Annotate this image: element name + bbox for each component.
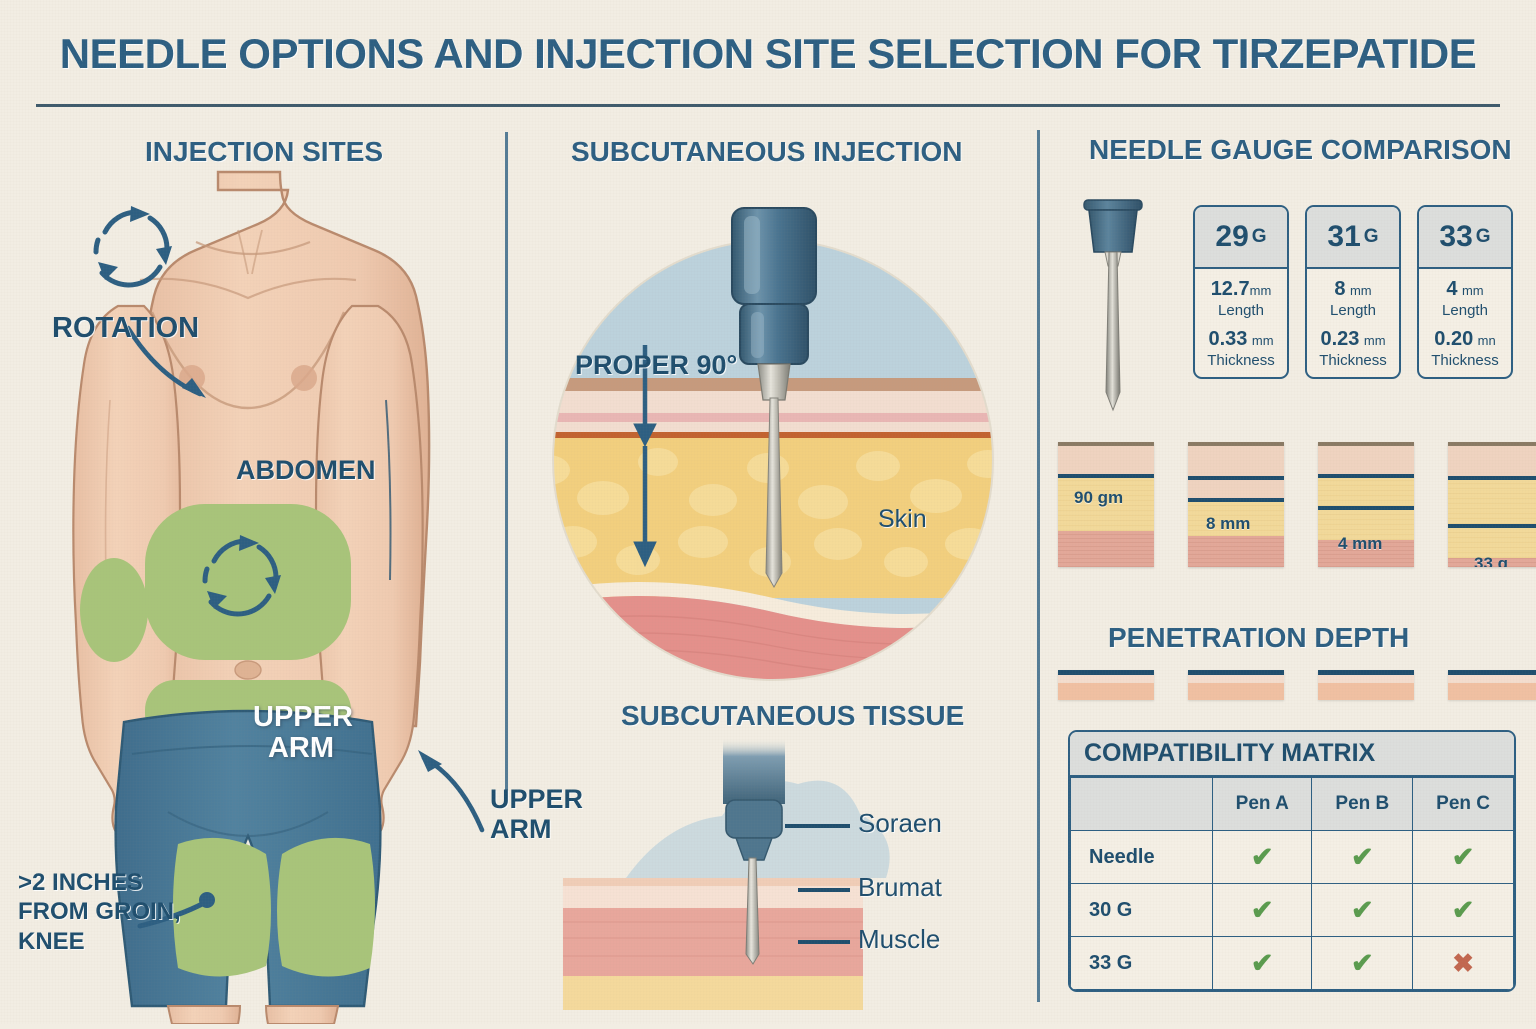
matrix-cell-2-2: ✖ xyxy=(1413,937,1514,990)
label-proper-90: PROPER 90° xyxy=(575,350,737,381)
gauge-card-0-thickness: 0.33 xyxy=(1208,328,1247,350)
matrix-cell-1-1: ✔ xyxy=(1312,884,1413,937)
check-icon: ✔ xyxy=(1251,842,1274,872)
matrix-cell-2-0: ✔ xyxy=(1213,937,1312,990)
gauge-card-0-thickness-unit: mm xyxy=(1252,333,1274,348)
matrix-cell-1-0: ✔ xyxy=(1213,884,1312,937)
gauge-card-0-unit: G xyxy=(1252,226,1267,248)
matrix-cell-0-1: ✔ xyxy=(1312,831,1413,884)
gauge-card-1-thickness-unit: mm xyxy=(1364,333,1386,348)
gauge-card-2-unit: G xyxy=(1476,226,1491,248)
gauge-card-0-body: 12.7mm Length 0.33 mm Thickness xyxy=(1195,269,1287,377)
gauge-card-2-body: 4 mm Length 0.20 mn Thickness xyxy=(1419,269,1511,377)
tissue-label-0: Soraen xyxy=(858,808,942,839)
check-icon: ✔ xyxy=(1251,948,1274,978)
label-skin: Skin xyxy=(878,505,927,534)
page-title: NEEDLE OPTIONS AND INJECTION SITE SELECT… xyxy=(0,30,1536,78)
groin-note-line2: FROM GROIN, xyxy=(18,897,181,926)
gauge-card-0[interactable]: 29 G 12.7mm Length 0.33 mm Thickness xyxy=(1193,205,1289,379)
tissue-label-1: Brumat xyxy=(858,872,942,903)
gauge-card-1[interactable]: 31 G 8 mm Length 0.23 mm Thickness xyxy=(1305,205,1401,379)
matrix-col-3: Pen C xyxy=(1413,778,1514,831)
gauge-card-2-value: 33 xyxy=(1439,220,1472,254)
navel xyxy=(235,661,261,679)
gauge-card-1-thickness: 0.23 xyxy=(1320,328,1359,350)
matrix-row-0-label: Needle xyxy=(1071,831,1213,884)
depth-box-3-label: 33 g xyxy=(1474,554,1508,567)
depth-box-2-label: 4 mm xyxy=(1338,534,1382,554)
subcutaneous-injection-diagram: PROPER 90° Skin xyxy=(508,130,1038,700)
needle-gauge-panel: 29 G 12.7mm Length 0.33 mm Thickness 31 … xyxy=(1040,130,1536,1024)
matrix-col-2: Pen B xyxy=(1312,778,1413,831)
reference-needle-icon xyxy=(1064,190,1160,420)
check-icon: ✔ xyxy=(1351,842,1374,872)
body-diagram: ROTATION ABDOMEN UPPER ARM UPPER ARM >2 … xyxy=(0,130,505,1024)
label-upper-arm-center-line2: ARM xyxy=(253,733,349,764)
page-title-text: NEEDLE OPTIONS AND INJECTION SITE SELECT… xyxy=(0,30,1536,78)
penetration-strip-2 xyxy=(1318,670,1414,700)
gauge-card-1-unit: G xyxy=(1364,226,1379,248)
gauge-card-2-length: 4 xyxy=(1446,278,1457,300)
gauge-card-1-length: 8 xyxy=(1334,278,1345,300)
compatibility-matrix: COMPATIBILITY MATRIX Pen A Pen B Pen C N… xyxy=(1068,730,1516,992)
site-upper-arm-left xyxy=(80,558,148,662)
gauge-card-2[interactable]: 33 G 4 mm Length 0.20 mn Thickness xyxy=(1417,205,1513,379)
site-abdomen-upper xyxy=(145,504,351,660)
gauge-card-1-body: 8 mm Length 0.23 mm Thickness xyxy=(1307,269,1399,377)
gauge-card-0-header: 29 G xyxy=(1195,207,1287,269)
matrix-cell-0-0: ✔ xyxy=(1213,831,1312,884)
label-groin-knee-note: >2 INCHES FROM GROIN, KNEE xyxy=(18,868,181,956)
depth-box-0: 90 gm xyxy=(1058,442,1154,567)
matrix-title: COMPATIBILITY MATRIX xyxy=(1070,732,1514,777)
depth-box-0-label: 90 gm xyxy=(1074,488,1123,508)
matrix-cell-0-2: ✔ xyxy=(1413,831,1514,884)
table-row: Needle ✔ ✔ ✔ xyxy=(1071,831,1514,884)
matrix-table: Pen A Pen B Pen C Needle ✔ ✔ ✔ 30 G ✔ ✔ … xyxy=(1070,777,1514,990)
gauge-card-0-thickness-caption: Thickness xyxy=(1199,352,1283,369)
check-icon: ✔ xyxy=(1452,895,1475,925)
matrix-col-0 xyxy=(1071,778,1213,831)
site-thigh-left xyxy=(173,838,271,977)
check-icon: ✔ xyxy=(1351,948,1374,978)
gauge-card-1-thickness-caption: Thickness xyxy=(1311,352,1395,369)
groin-note-line3: KNEE xyxy=(18,927,181,956)
gauge-card-0-length-caption: Length xyxy=(1199,302,1283,319)
matrix-cell-2-1: ✔ xyxy=(1312,937,1413,990)
table-row: 33 G ✔ ✔ ✖ xyxy=(1071,937,1514,990)
check-icon: ✔ xyxy=(1351,895,1374,925)
gauge-card-1-header: 31 G xyxy=(1307,207,1399,269)
depth-box-1: 8 mm xyxy=(1188,442,1284,567)
gauge-card-0-length-unit: mm xyxy=(1250,283,1272,298)
heading-penetration-depth: PENETRATION DEPTH xyxy=(1108,622,1409,654)
cross-icon: ✖ xyxy=(1452,948,1474,978)
matrix-col-1: Pen A xyxy=(1213,778,1312,831)
tissue-svg xyxy=(508,700,1038,1024)
groin-note-line1: >2 INCHES xyxy=(18,868,181,897)
penetration-strip-0 xyxy=(1058,670,1154,700)
check-icon: ✔ xyxy=(1251,895,1274,925)
gauge-card-1-length-unit: mm xyxy=(1350,283,1372,298)
title-divider xyxy=(36,104,1500,107)
gauge-card-0-length: 12.7 xyxy=(1211,278,1250,300)
depth-box-2: 4 mm xyxy=(1318,442,1414,567)
injection-circle-svg xyxy=(508,130,1038,700)
gauge-card-2-thickness-caption: Thickness xyxy=(1423,352,1507,369)
gauge-card-2-thickness: 0.20 xyxy=(1434,328,1473,350)
tissue-label-2: Muscle xyxy=(858,924,940,955)
penetration-strip-1 xyxy=(1188,670,1284,700)
matrix-row-1-label: 30 G xyxy=(1071,884,1213,937)
matrix-cell-1-2: ✔ xyxy=(1413,884,1514,937)
gauge-card-1-value: 31 xyxy=(1327,220,1360,254)
label-upper-arm-center: UPPER ARM xyxy=(253,702,349,763)
matrix-row-2-label: 33 G xyxy=(1071,937,1213,990)
subcutaneous-tissue-diagram: Soraen Brumat Muscle xyxy=(508,700,1038,1024)
gauge-card-0-value: 29 xyxy=(1215,220,1248,254)
gauge-card-2-header: 33 G xyxy=(1419,207,1511,269)
site-thigh-right xyxy=(277,838,375,977)
penetration-strip-3 xyxy=(1448,670,1536,700)
check-icon: ✔ xyxy=(1452,842,1475,872)
gauge-card-2-thickness-unit: mn xyxy=(1478,333,1496,348)
gauge-card-2-length-caption: Length xyxy=(1423,302,1507,319)
label-rotation: ROTATION xyxy=(52,312,199,345)
table-row: 30 G ✔ ✔ ✔ xyxy=(1071,884,1514,937)
gauge-card-1-length-caption: Length xyxy=(1311,302,1395,319)
label-abdomen: ABDOMEN xyxy=(236,455,376,486)
depth-box-3: 33 g xyxy=(1448,442,1536,567)
matrix-header-row: Pen A Pen B Pen C xyxy=(1071,778,1514,831)
depth-box-1-label: 8 mm xyxy=(1206,514,1250,534)
label-upper-arm-center-line1: UPPER xyxy=(253,702,349,733)
gauge-card-2-length-unit: mm xyxy=(1462,283,1484,298)
